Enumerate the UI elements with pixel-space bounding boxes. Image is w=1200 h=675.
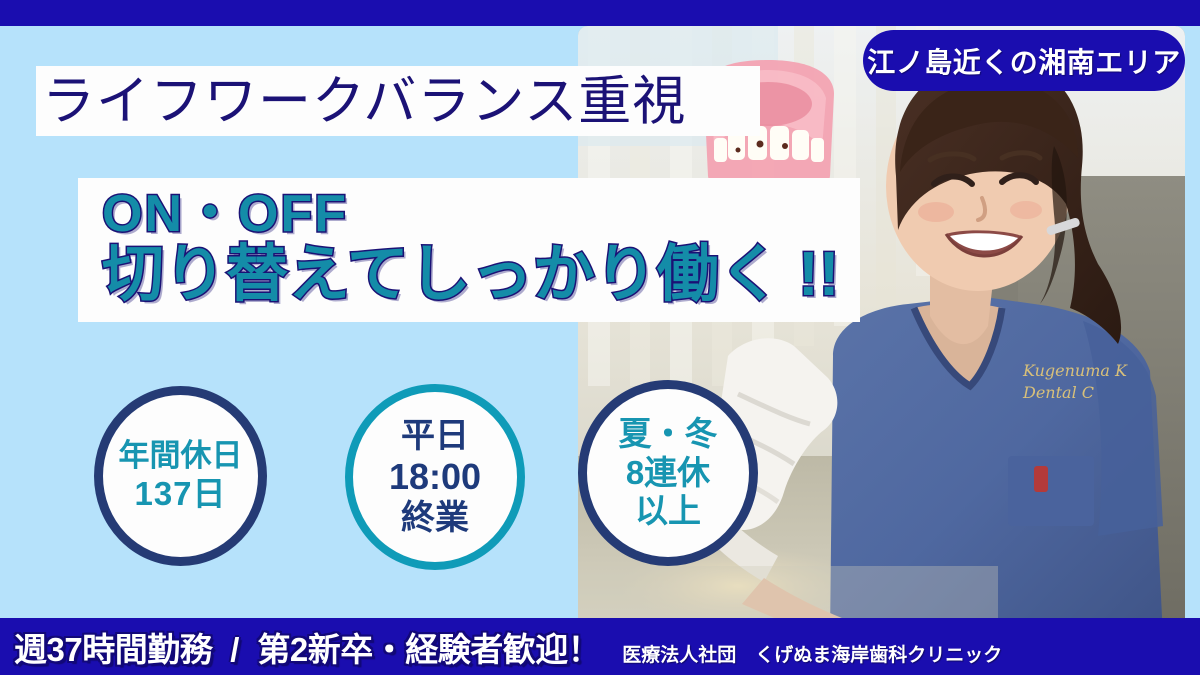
svg-text:Kugenuma K: Kugenuma K bbox=[1022, 361, 1128, 380]
benefit-circle-1-line-1: 年間休日 bbox=[119, 438, 243, 475]
benefit-circle-2-line-1: 平日 bbox=[401, 416, 469, 456]
svg-text:Dental C: Dental C bbox=[1022, 383, 1094, 402]
top-accent-bar bbox=[0, 0, 1200, 26]
benefit-circle-annual-holidays: 年間休日 137日 bbox=[94, 386, 267, 566]
location-badge: 江ノ島近くの湘南エリア bbox=[863, 30, 1185, 91]
footer-bar: 週37時間勤務 / 第2新卒・経験者歓迎！ 医療法人社団 くげぬま海岸歯科クリニ… bbox=[0, 618, 1200, 675]
benefit-circle-2-line-3: 終業 bbox=[401, 498, 469, 538]
callout-band: ON・OFF 切り替えてしっかり働く !! bbox=[78, 178, 860, 322]
location-badge-label: 江ノ島近くの湘南エリア bbox=[867, 41, 1181, 81]
ad-banner: Kugenuma K Dental C bbox=[0, 0, 1200, 675]
footer-welcome-text: 第2新卒・経験者歓迎！ bbox=[257, 623, 600, 671]
benefit-circle-seasonal-break: 夏・冬 8連休 以上 bbox=[578, 380, 758, 566]
callout-line-1: ON・OFF bbox=[102, 188, 860, 240]
footer-weekly-hours: 週37時間勤務 bbox=[14, 623, 212, 671]
headline-band: ライフワークバランス重視 bbox=[36, 66, 760, 136]
benefit-circle-3-line-3: 以上 bbox=[635, 492, 701, 531]
footer-clinic-name: 医療法人社団 くげぬま海岸歯科クリニック bbox=[622, 640, 1002, 667]
benefit-circle-2-line-2: 18:00 bbox=[389, 456, 481, 498]
page-title: ライフワークバランス重視 bbox=[36, 75, 686, 128]
benefit-circle-1-line-2: 137日 bbox=[134, 475, 226, 514]
benefit-circle-3-line-2: 8連休 bbox=[626, 454, 710, 493]
footer-content: 週37時間勤務 / 第2新卒・経験者歓迎！ 医療法人社団 くげぬま海岸歯科クリニ… bbox=[0, 623, 1200, 671]
benefit-circle-3-line-1: 夏・冬 bbox=[619, 415, 718, 454]
callout-line-2: 切り替えてしっかり働く !! bbox=[102, 244, 860, 306]
footer-separator: / bbox=[212, 631, 257, 669]
benefit-circle-weekday-close: 平日 18:00 終業 bbox=[345, 384, 525, 570]
